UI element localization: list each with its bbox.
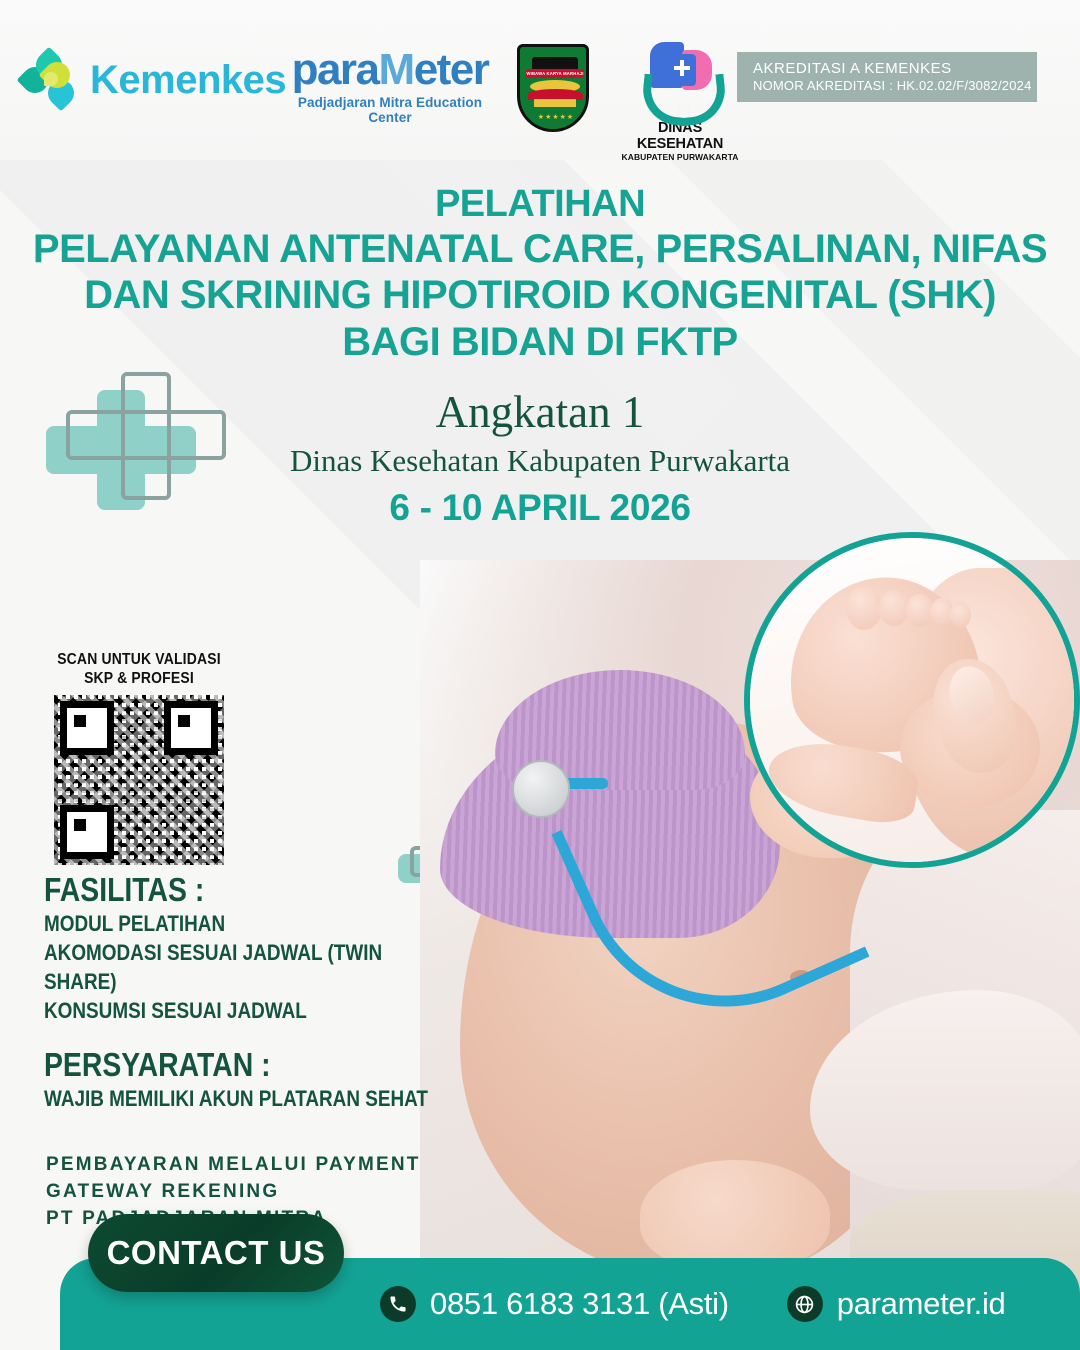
payment-line-1: PEMBAYARAN MELALUI PAYMENT: [46, 1152, 516, 1179]
shield-icon: WIBAWA KARYA MARHAJI ★★★★★: [517, 44, 589, 132]
persyaratan-item-0: WAJIB MEMILIKI AKUN PLATARAN SEHAT: [44, 1084, 448, 1113]
fasilitas-item-2: KONSUMSI SESUAI JADWAL: [44, 996, 448, 1025]
header-logo-bar: Kemenkes paraMeter Padjadjaran Mitra Edu…: [0, 0, 1080, 170]
poster-title: PELATIHAN PELAYANAN ANTENATAL CARE, PERS…: [0, 182, 1080, 365]
kemenkes-flower-icon: [22, 52, 78, 108]
kemenkes-logo: Kemenkes: [22, 52, 286, 108]
persyaratan-heading: PERSYARATAN :: [44, 1047, 448, 1084]
stethoscope-icon: [512, 760, 570, 818]
parameter-subtitle: Padjadjaran Mitra Education Center: [275, 95, 505, 125]
fasilitas-item-0: MODUL PELATIHAN: [44, 909, 448, 938]
organizer-label: Dinas Kesehatan Kabupaten Purwakarta: [0, 443, 1080, 479]
title-line-4: BAGI BIDAN DI FKTP: [0, 319, 1080, 365]
fasilitas-item-1: AKOMODASI SESUAI JADWAL (TWIN SHARE): [44, 938, 448, 996]
parameter-logo: paraMeter Padjadjaran Mitra Education Ce…: [275, 48, 505, 125]
dinkes-logo: DINAS KESEHATAN KABUPATEN PURWAKARTA: [620, 40, 740, 162]
akreditasi-line2: NOMOR AKREDITASI : HK.02.02/F/3082/2024: [753, 78, 1037, 94]
website-url: parameter.id: [837, 1286, 1006, 1322]
purwakarta-emblem: WIBAWA KARYA MARHAJI ★★★★★: [517, 44, 589, 132]
contact-us-button[interactable]: CONTACT US: [88, 1214, 344, 1292]
payment-line-2: GATEWAY REKENING: [46, 1179, 516, 1206]
qr-code-image[interactable]: [54, 695, 224, 865]
footer-website[interactable]: parameter.id: [787, 1286, 1006, 1322]
poster-canvas: Kemenkes paraMeter Padjadjaran Mitra Edu…: [0, 0, 1080, 1350]
kemenkes-wordmark: Kemenkes: [90, 58, 286, 103]
dinkes-hands-cross-icon: [632, 40, 728, 118]
title-line-1: PELATIHAN: [0, 182, 1080, 226]
qr-caption-line-2: SKP & PROFESI: [54, 669, 225, 688]
baby-feet-photo: [744, 532, 1080, 868]
phone-number: 0851 6183 3131 (Asti): [430, 1286, 729, 1322]
akreditasi-line1: AKREDITASI A KEMENKES: [753, 60, 1037, 79]
qr-caption-line-1: SCAN UNTUK VALIDASI: [54, 650, 225, 669]
footer-phone[interactable]: 0851 6183 3131 (Asti): [380, 1286, 729, 1322]
phone-icon: [380, 1286, 416, 1322]
shield-stars: ★★★★★: [534, 113, 578, 121]
qr-validation-block: SCAN UNTUK VALIDASI SKP & PROFESI: [44, 650, 234, 865]
globe-icon: [787, 1286, 823, 1322]
shield-motto: WIBAWA KARYA MARHAJI: [526, 69, 584, 78]
parameter-wordmark: paraMeter: [275, 48, 505, 92]
info-section: FASILITAS : MODUL PELATIHAN AKOMODASI SE…: [44, 872, 514, 1113]
parameter-leaf-letter: M: [379, 45, 414, 94]
dinkes-region: KABUPATEN PURWAKARTA: [620, 152, 740, 162]
title-line-2: PELAYANAN ANTENATAL CARE, PERSALINAN, NI…: [0, 226, 1080, 272]
parameter-word-a: para: [292, 45, 379, 94]
title-line-3: DAN SKRINING HIPOTIROID KONGENITAL (SHK): [0, 272, 1080, 318]
event-date: 6 - 10 APRIL 2026: [0, 487, 1080, 529]
parameter-word-b: eter: [414, 45, 489, 94]
fasilitas-heading: FASILITAS :: [44, 872, 448, 909]
akreditasi-badge: AKREDITASI A KEMENKES NOMOR AKREDITASI :…: [737, 52, 1037, 102]
contact-us-label: CONTACT US: [107, 1234, 326, 1272]
batch-label: Angkatan 1: [0, 386, 1080, 438]
